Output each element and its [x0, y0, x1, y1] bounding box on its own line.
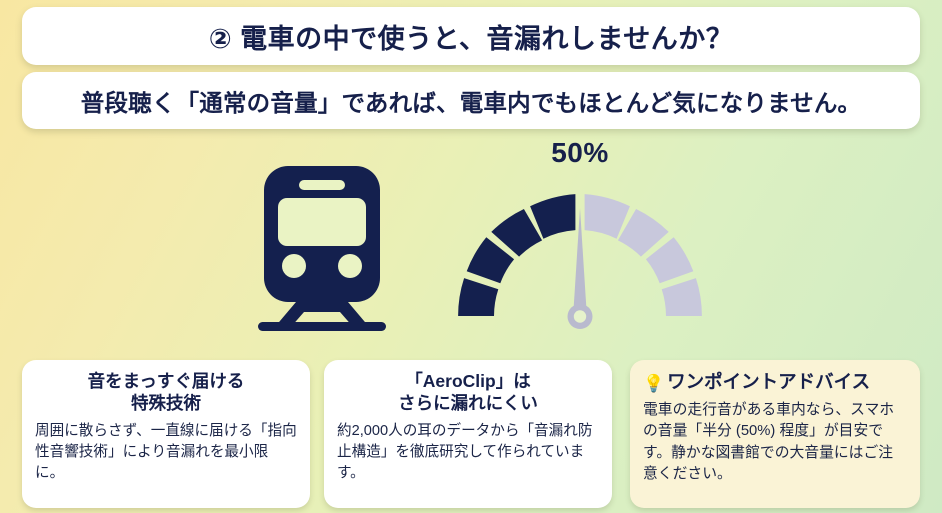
- card-body: 電車の走行音がある車内なら、スマホの音量「半分 (50%) 程度」が目安です。静…: [643, 400, 907, 486]
- train-front-icon: [252, 162, 392, 332]
- card-title-line: 特殊技術: [35, 392, 297, 414]
- gauge-segment-empty-4: [662, 278, 702, 316]
- card-title: 音をまっすぐ届ける 特殊技術: [35, 370, 297, 415]
- feature-cards: 音をまっすぐ届ける 特殊技術 周囲に散らさず、一直線に届ける「指向性音響技術」に…: [0, 360, 942, 513]
- subtitle-banner: 普段聴く「通常の音量」であれば、電車内でもほとんど気になりません。: [22, 72, 920, 129]
- infographic-slide: ② 電車の中で使うと、音漏れしませんか？ 普段聴く「通常の音量」であれば、電車内…: [0, 0, 942, 513]
- volume-gauge: 50%: [438, 140, 722, 346]
- gauge-segment-filled-1: [458, 278, 498, 316]
- title-banner: ② 電車の中で使うと、音漏れしませんか？: [22, 7, 920, 65]
- card-directional-audio: 音をまっすぐ届ける 特殊技術 周囲に散らさず、一直線に届ける「指向性音響技術」に…: [22, 360, 310, 508]
- page-title: ② 電車の中で使うと、音漏れしませんか？: [209, 17, 733, 56]
- card-body: 周囲に散らさず、一直線に届ける「指向性音響技術」により音漏れを最小限に。: [35, 421, 297, 484]
- card-title-line: 「AeroClip」は: [337, 370, 599, 392]
- card-title-line: ワンポイントアドバイス: [667, 371, 870, 392]
- visual-area: 50%: [0, 132, 942, 354]
- lightbulb-icon: 💡: [643, 374, 664, 393]
- card-title: 💡ワンポイントアドバイス: [643, 370, 907, 395]
- card-title-line: さらに漏れにくい: [337, 392, 599, 414]
- card-one-point-advice: 💡ワンポイントアドバイス 電車の走行音がある車内なら、スマホの音量「半分 (50…: [630, 360, 920, 508]
- page-subtitle: 普段聴く「通常の音量」であれば、電車内でもほとんど気になりません。: [81, 84, 861, 118]
- card-title-line: 音をまっすぐ届ける: [35, 370, 297, 392]
- card-aeroclip: 「AeroClip」は さらに漏れにくい 約2,000人の耳のデータから「音漏れ…: [324, 360, 612, 508]
- card-body: 約2,000人の耳のデータから「音漏れ防止構造」を徹底研究して作られています。: [337, 421, 599, 484]
- card-title: 「AeroClip」は さらに漏れにくい: [337, 370, 599, 415]
